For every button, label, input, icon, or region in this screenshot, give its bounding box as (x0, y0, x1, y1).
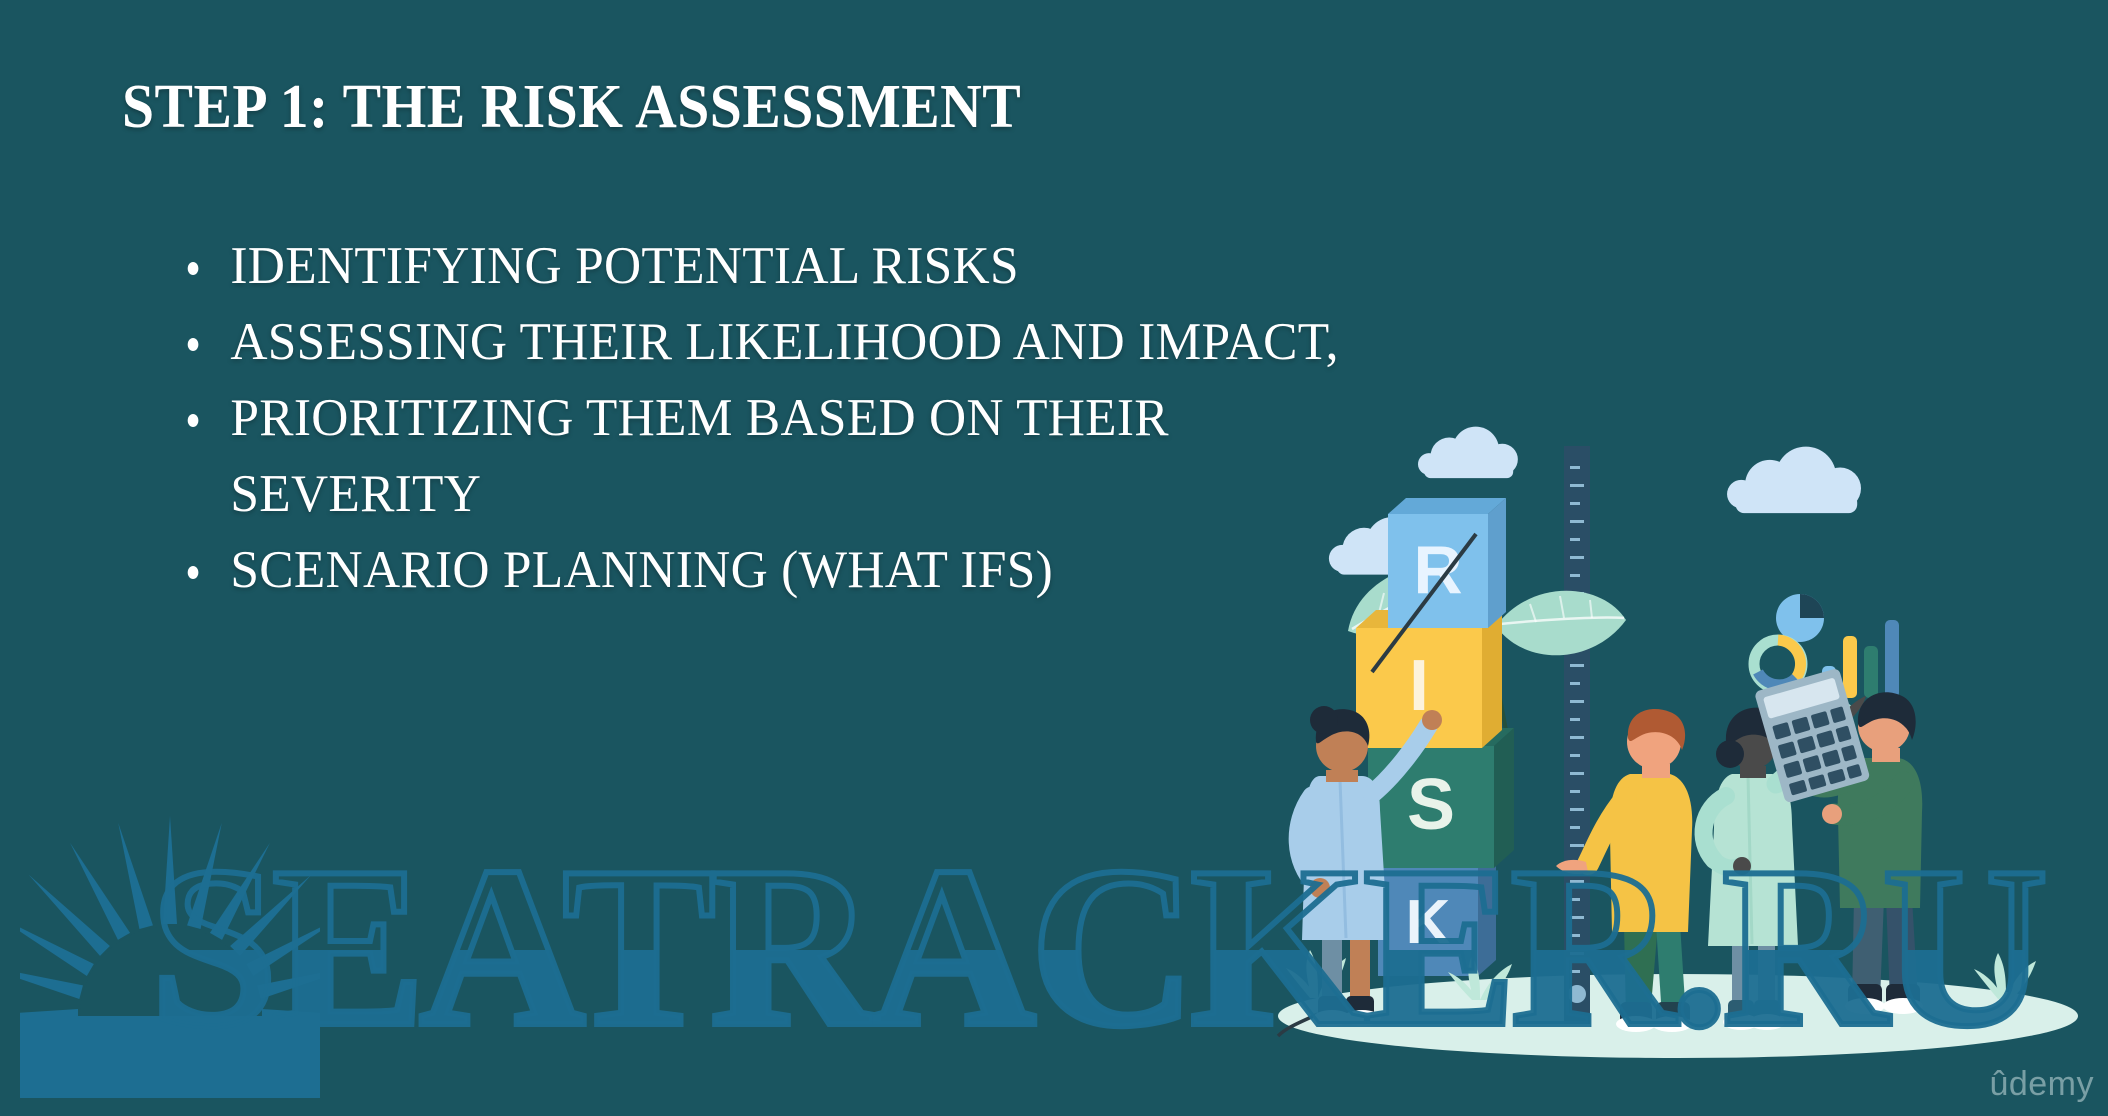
block-S: S (1368, 728, 1514, 868)
bullet-item: PRIORITIZING THEM BASED ON THEIR SEVERIT… (178, 380, 1391, 532)
udemy-watermark: ûdemy (1989, 1065, 2094, 1104)
grass-tuft (1286, 950, 2036, 1000)
person-man-with-calculator (1754, 668, 1923, 1014)
pie-chart-icon (1776, 594, 1824, 642)
svg-text:I: I (1409, 646, 1429, 726)
person-woman-pointing (1704, 696, 1866, 1030)
donut-chart-icon (1754, 640, 1802, 688)
person-woman-with-pointer (1278, 534, 1476, 1036)
bullet-item: SCENARIO PLANNING (WHAT IFS) (178, 532, 1391, 608)
leaf-icon-right (1496, 591, 1626, 656)
svg-text:K: K (1406, 888, 1451, 957)
seatracker-watermark: SEATRACKER.RU SEATRACKER.RU (150, 838, 2070, 1053)
block-K: K (1378, 850, 1496, 976)
bullet-list: IDENTIFYING POTENTIAL RISKS ASSESSING TH… (178, 228, 1428, 608)
mini-charts-group (1754, 594, 1899, 698)
bar-chart-icon (1822, 620, 1899, 698)
slide-canvas: K S I R (0, 0, 2108, 1116)
person-man-yellow-sweater (1556, 709, 1692, 1032)
seatracker-watermark-outline: SEATRACKER.RU (150, 838, 2043, 1053)
sun-logo-watermark (20, 798, 320, 1098)
slide-title: STEP 1: THE RISK ASSESSMENT (122, 72, 1021, 143)
seatracker-watermark-fill: SEATRACKER.RU (150, 838, 2043, 1053)
bullet-item: ASSESSING THEIR LIKELIHOOD AND IMPACT, (178, 304, 1391, 380)
ground-island (1278, 974, 2078, 1058)
calculator-icon (1754, 668, 1871, 804)
bullet-item: IDENTIFYING POTENTIAL RISKS (178, 228, 1391, 304)
svg-text:S: S (1407, 765, 1455, 845)
block-I: I (1356, 610, 1502, 748)
measuring-ruler (1564, 446, 1590, 1024)
